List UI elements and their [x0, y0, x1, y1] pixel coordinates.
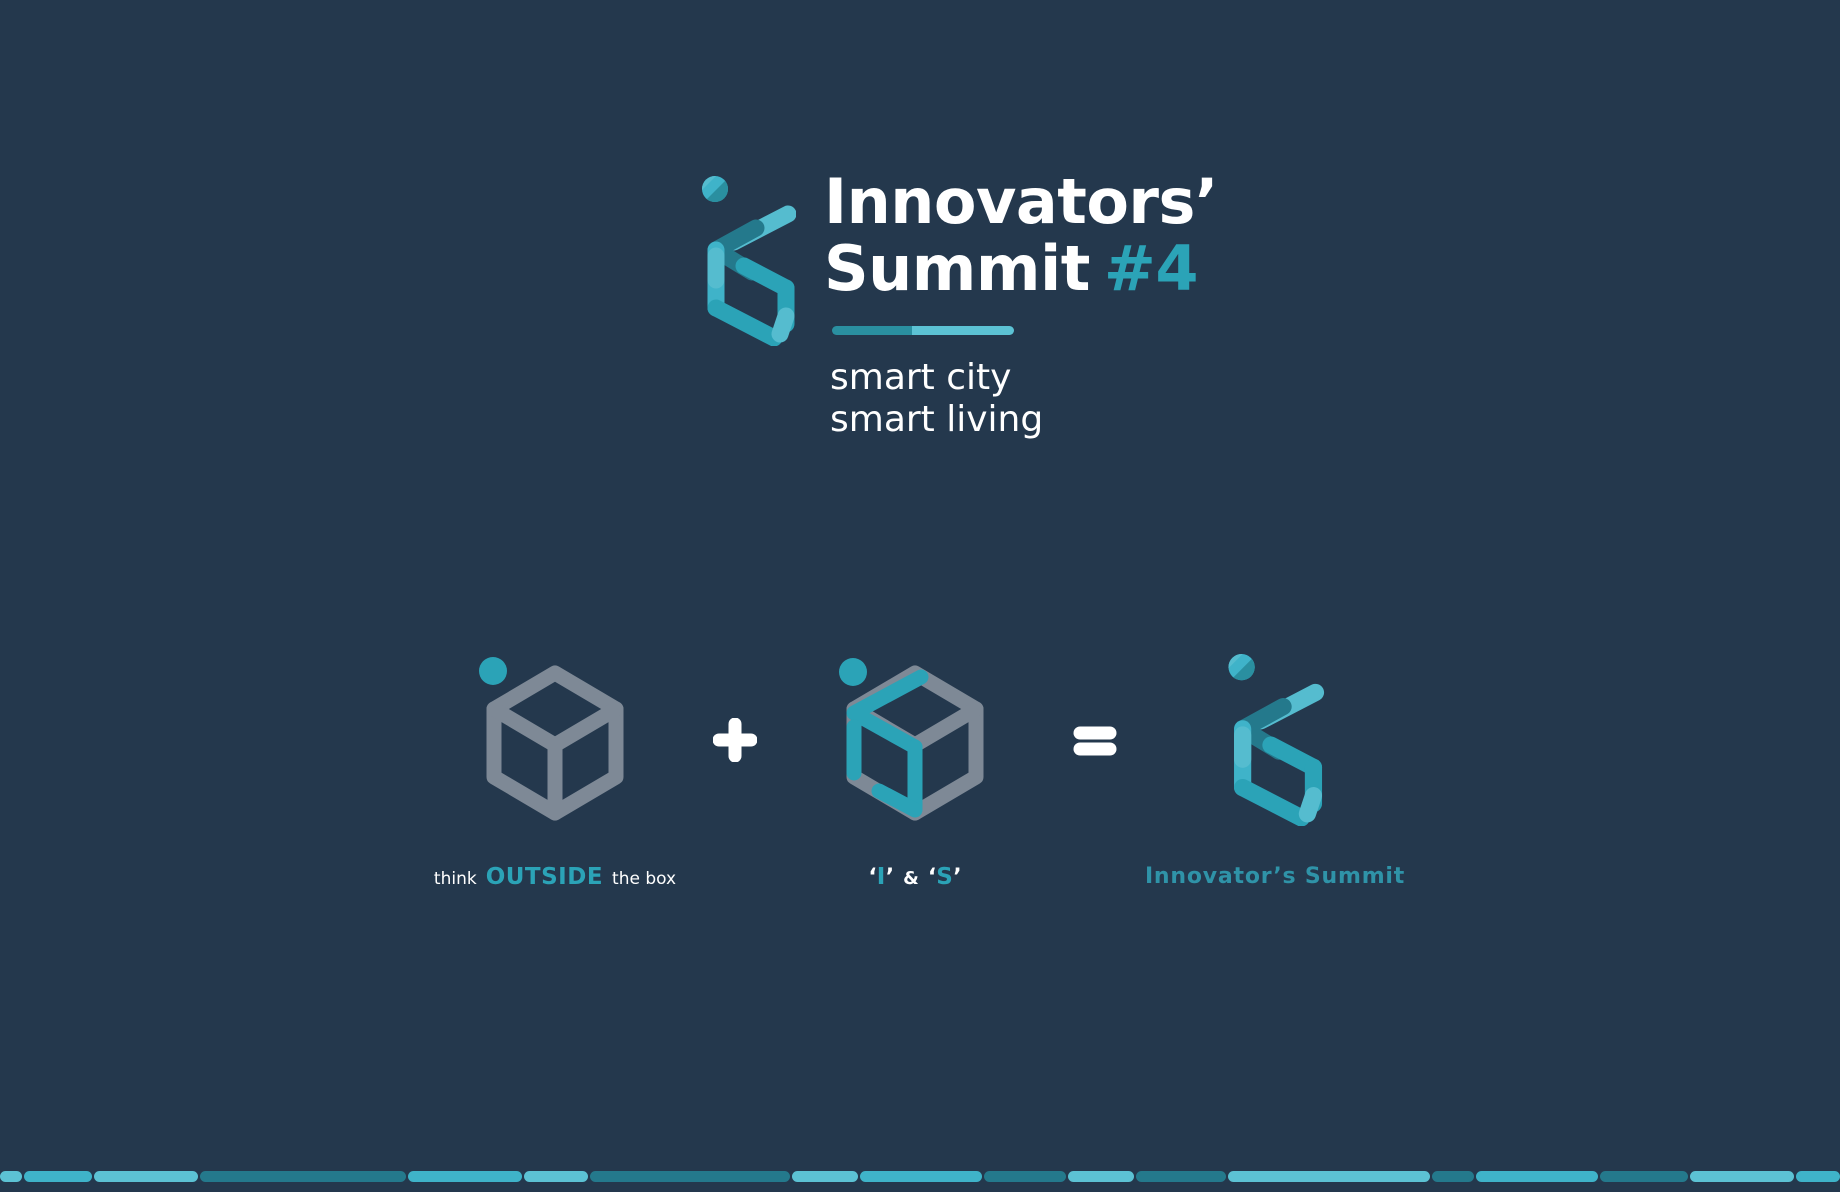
bar-segment — [984, 1171, 1066, 1182]
equation-figure-box — [475, 650, 635, 830]
bottom-progress-bar — [0, 1171, 1840, 1182]
title-line-1: Innovators’ — [824, 165, 1218, 238]
bar-segment — [94, 1171, 198, 1182]
bar-segment — [1228, 1171, 1430, 1182]
equation-item-box: think OUTSIDE the box — [430, 650, 680, 890]
cube-with-is-monogram-icon — [835, 655, 995, 825]
accent-dot-icon — [479, 657, 507, 685]
divider-segment-left — [832, 326, 912, 335]
bar-segment — [1136, 1171, 1226, 1182]
bar-segment — [860, 1171, 982, 1182]
bar-segment — [1690, 1171, 1794, 1182]
bar-segment — [524, 1171, 588, 1182]
equation-caption-result: Innovator’s Summit — [1145, 864, 1405, 889]
brand-lockup: Innovators’ Summit#4 smart city smart li… — [700, 172, 1218, 441]
bar-segment — [1432, 1171, 1474, 1182]
wordmark: Innovators’ Summit#4 — [824, 172, 1218, 300]
wordmark-block: Innovators’ Summit#4 smart city smart li… — [824, 172, 1218, 441]
equation-caption-box: think OUTSIDE the box — [434, 864, 676, 890]
bar-segment — [200, 1171, 406, 1182]
bar-segment — [792, 1171, 858, 1182]
bar-segment — [408, 1171, 522, 1182]
bar-segment — [1068, 1171, 1134, 1182]
title-line-2: Summit — [824, 232, 1090, 305]
brand-divider — [832, 326, 1014, 335]
equals-operator — [1040, 650, 1150, 830]
equation-item-result: Innovator’s Summit — [1150, 650, 1400, 889]
tagline: smart city smart living — [830, 357, 1218, 442]
bar-segment — [24, 1171, 92, 1182]
bar-segment — [0, 1171, 22, 1182]
caption-part-2: the box — [612, 869, 676, 889]
bar-segment — [1476, 1171, 1598, 1182]
tagline-line-1: smart city — [830, 357, 1218, 399]
plus-operator — [680, 650, 790, 830]
equals-icon — [1073, 718, 1117, 762]
brand-equation: think OUTSIDE the box — [430, 650, 1400, 890]
innovators-summit-monogram-icon — [1210, 654, 1340, 826]
bar-segment — [1600, 1171, 1688, 1182]
innovators-summit-monogram-icon — [700, 176, 796, 346]
equation-figure-is-cube — [835, 650, 995, 830]
wireframe-cube-icon — [475, 655, 635, 825]
edition-number: #4 — [1104, 232, 1198, 305]
title-line-2-row: Summit#4 — [824, 239, 1218, 300]
slide-canvas: Innovators’ Summit#4 smart city smart li… — [0, 0, 1840, 1192]
bar-segment — [590, 1171, 790, 1182]
bar-segment — [1796, 1171, 1840, 1182]
equation-figure-monogram — [1210, 650, 1340, 830]
divider-segment-right — [912, 326, 1014, 335]
caption-part-1: OUTSIDE — [486, 864, 603, 890]
tagline-line-2: smart living — [830, 399, 1218, 441]
caption-ampersand: & — [903, 868, 919, 889]
caption-part-0: think — [434, 869, 477, 889]
caption-quote-open-2: ‘S’ — [928, 864, 962, 890]
equation-caption-is-letters: ‘I’ & ‘S’ — [868, 864, 961, 890]
accent-dot-icon — [839, 658, 867, 686]
equation-item-is-letters: ‘I’ & ‘S’ — [790, 650, 1040, 890]
plus-icon — [713, 718, 757, 762]
caption-quote-open-1: ‘I’ — [868, 864, 894, 890]
